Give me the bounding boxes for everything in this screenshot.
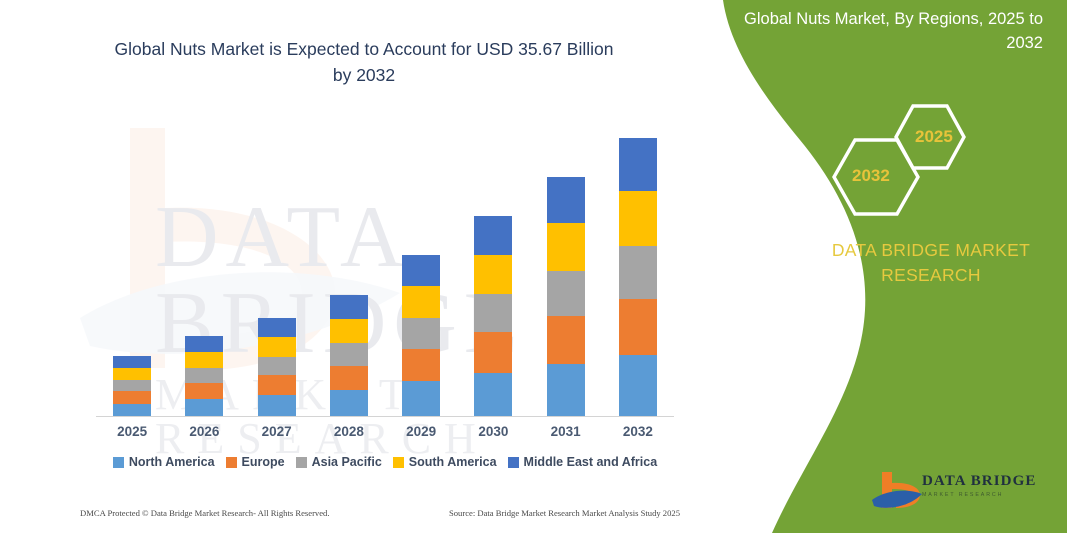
bar-segment	[330, 319, 368, 343]
legend-swatch-icon	[113, 457, 124, 468]
bar-segment	[258, 375, 296, 395]
panel-title: Global Nuts Market, By Regions, 2025 to …	[733, 8, 1043, 56]
hexagon-start-label: 2032	[852, 166, 890, 186]
bar-segment	[619, 246, 657, 299]
legend-item[interactable]: Europe	[226, 455, 285, 469]
bar-segment	[185, 399, 223, 417]
bar-2030	[474, 216, 512, 417]
footer: DMCA Protected © Data Bridge Market Rese…	[80, 508, 680, 518]
bar-segment	[619, 355, 657, 417]
x-axis-label-2025: 2025	[96, 424, 168, 439]
bar-segment	[619, 138, 657, 191]
brand-name: DATA BRIDGE MARKET RESEARCH	[808, 238, 1054, 289]
logo-title: DATA BRIDGE	[922, 473, 1036, 490]
bar-segment	[402, 318, 440, 349]
x-axis-line	[96, 416, 674, 417]
hexagon-end-label: 2025	[915, 127, 953, 147]
bar-2032	[619, 138, 657, 417]
x-axis-label-2031: 2031	[530, 424, 602, 439]
bar-segment	[113, 404, 151, 418]
legend-item[interactable]: South America	[393, 455, 497, 469]
x-axis-label-2027: 2027	[241, 424, 313, 439]
bar-segment	[185, 383, 223, 400]
chart-legend: North AmericaEuropeAsia PacificSouth Ame…	[96, 455, 674, 469]
bar-segment	[113, 356, 151, 368]
data-bridge-logo: DATA BRIDGE MARKET RESEARCH	[872, 468, 1062, 516]
legend-swatch-icon	[393, 457, 404, 468]
bar-segment	[547, 364, 585, 417]
bar-segment	[330, 295, 368, 319]
logo-wordmark: DATA BRIDGE MARKET RESEARCH	[922, 473, 1036, 498]
bar-segment	[258, 357, 296, 376]
legend-swatch-icon	[226, 457, 237, 468]
bar-2025	[113, 356, 151, 417]
bar-chart-plot	[96, 120, 674, 417]
bar-segment	[547, 271, 585, 317]
bar-segment	[113, 368, 151, 380]
legend-label: Europe	[242, 455, 285, 469]
bar-segment	[547, 316, 585, 364]
bar-segment	[619, 191, 657, 246]
bar-segment	[258, 395, 296, 417]
bar-segment	[402, 286, 440, 318]
bar-segment	[258, 318, 296, 337]
x-axis-label-2029: 2029	[385, 424, 457, 439]
legend-swatch-icon	[296, 457, 307, 468]
bar-segment	[474, 216, 512, 255]
bar-segment	[113, 380, 151, 392]
bar-segment	[185, 368, 223, 383]
bar-segment	[474, 332, 512, 373]
bar-segment	[185, 352, 223, 368]
footer-source: Source: Data Bridge Market Research Mark…	[449, 508, 680, 518]
bar-segment	[258, 337, 296, 357]
legend-label: South America	[409, 455, 497, 469]
bar-2026	[185, 336, 223, 417]
legend-label: Asia Pacific	[312, 455, 382, 469]
legend-swatch-icon	[508, 457, 519, 468]
infographic-canvas: DATA BRIDGE MARKET RESEARCH Global Nuts …	[0, 0, 1067, 533]
x-axis-label-2032: 2032	[602, 424, 674, 439]
legend-label: North America	[129, 455, 215, 469]
bar-segment	[547, 177, 585, 223]
x-axis-label-2030: 2030	[457, 424, 529, 439]
bar-2029	[402, 255, 440, 417]
logo-mark-icon	[872, 470, 924, 516]
bar-segment	[474, 255, 512, 295]
bar-segment	[474, 294, 512, 332]
bar-segment	[402, 381, 440, 417]
x-axis-label-2028: 2028	[313, 424, 385, 439]
bar-segment	[113, 391, 151, 404]
bar-segment	[330, 390, 368, 417]
hexagon-group: 2025 2032	[825, 96, 995, 216]
bar-segment	[402, 349, 440, 382]
legend-item[interactable]: North America	[113, 455, 215, 469]
bar-segment	[547, 223, 585, 271]
x-axis-label-2026: 2026	[168, 424, 240, 439]
bar-segment	[330, 366, 368, 391]
bar-segment	[185, 336, 223, 352]
bar-segment	[330, 343, 368, 366]
bar-segment	[619, 299, 657, 355]
logo-subtitle: MARKET RESEARCH	[922, 492, 1036, 498]
chart-title: Global Nuts Market is Expected to Accoun…	[104, 36, 624, 89]
legend-item[interactable]: Middle East and Africa	[508, 455, 658, 469]
legend-item[interactable]: Asia Pacific	[296, 455, 382, 469]
bar-segment	[402, 255, 440, 286]
legend-label: Middle East and Africa	[524, 455, 658, 469]
footer-copyright: DMCA Protected © Data Bridge Market Rese…	[80, 508, 330, 518]
bar-segment	[474, 373, 512, 418]
bar-2027	[258, 318, 296, 417]
bar-2028	[330, 295, 368, 417]
bar-2031	[547, 177, 585, 417]
x-axis-tick-labels: 20252026202720282029203020312032	[96, 424, 674, 446]
